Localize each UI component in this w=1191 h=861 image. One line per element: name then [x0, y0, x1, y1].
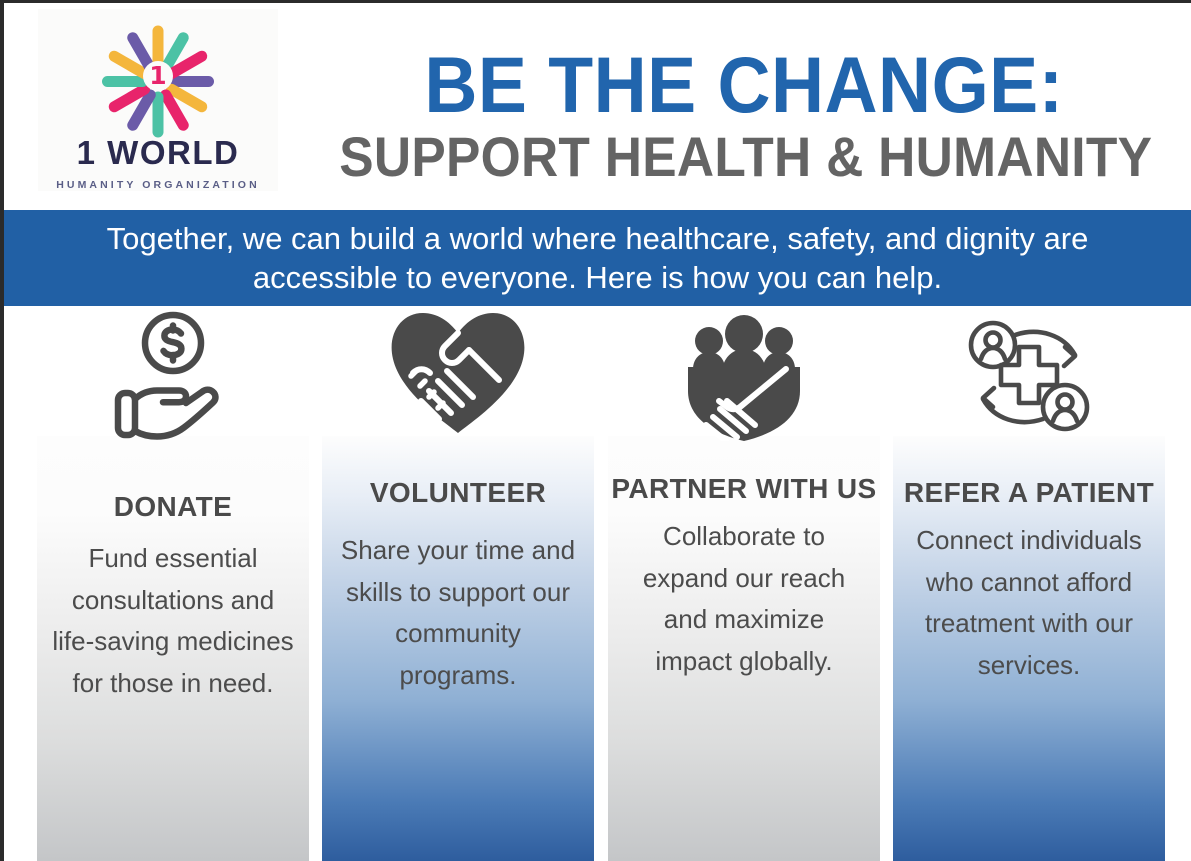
- card-volunteer[interactable]: VOLUNTEER Share your time and skills to …: [322, 436, 594, 861]
- page-title: BE THE CHANGE: SUPPORT HEALTH & HUMANITY: [304, 47, 1184, 185]
- card-body: Collaborate to expand our reach and maxi…: [622, 516, 866, 682]
- action-cards: DONATE Fund essential consultations and …: [4, 306, 1191, 861]
- burst-logo-icon: 1: [102, 25, 214, 126]
- header: 1 1 WORLD HUMANITY ORGANIZATION BE THE C…: [4, 3, 1191, 210]
- card-title: VOLUNTEER: [370, 478, 546, 508]
- card-title: PARTNER WITH US: [611, 474, 876, 504]
- logo-wordmark: 1 WORLD: [77, 134, 240, 172]
- card-title: DONATE: [114, 492, 233, 522]
- patient-referral-cross-icon: [893, 301, 1165, 441]
- intro-banner: Together, we can build a world where hea…: [4, 210, 1191, 306]
- poster-canvas: 1 1 WORLD HUMANITY ORGANIZATION BE THE C…: [4, 3, 1191, 861]
- card-partner-with-us[interactable]: PARTNER WITH US Collaborate to expand ou…: [608, 436, 880, 861]
- logo-numeral: 1: [141, 59, 175, 93]
- card-donate[interactable]: DONATE Fund essential consultations and …: [37, 436, 309, 861]
- organization-logo: 1 1 WORLD HUMANITY ORGANIZATION: [38, 9, 278, 191]
- title-line-1: BE THE CHANGE:: [335, 47, 1153, 123]
- logo-tagline: HUMANITY ORGANIZATION: [56, 179, 260, 191]
- card-title: REFER A PATIENT: [904, 478, 1154, 508]
- intro-banner-text: Together, we can build a world where hea…: [33, 219, 1163, 297]
- card-body: Share your time and skills to support ou…: [336, 530, 580, 696]
- card-refer-a-patient[interactable]: REFER A PATIENT Connect individuals who …: [893, 436, 1165, 861]
- title-line-2: SUPPORT HEALTH & HUMANITY: [339, 129, 1149, 185]
- heart-handshake-icon: [322, 301, 594, 441]
- card-body: Connect individuals who cannot afford tr…: [907, 520, 1151, 686]
- hand-holding-dollar-icon: [37, 301, 309, 441]
- card-body: Fund essential consultations and life-sa…: [51, 538, 295, 704]
- people-shield-handshake-icon: [608, 301, 880, 441]
